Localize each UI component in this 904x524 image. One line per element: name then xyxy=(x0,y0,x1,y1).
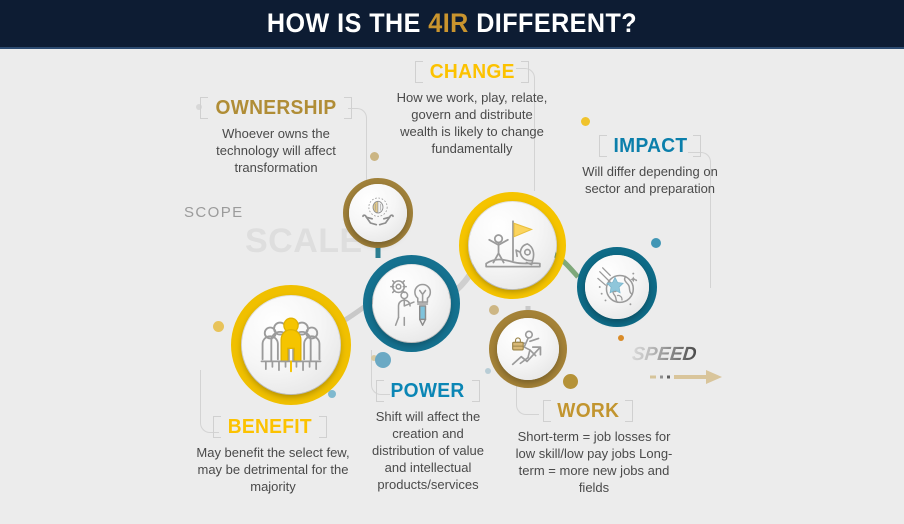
watermark-speed: SPEED xyxy=(631,344,698,366)
benefit-title: BENEFIT xyxy=(228,416,312,438)
block-work: WORK Short-term = job losses for low ski… xyxy=(508,399,668,496)
gear-lightbulb-pencil-icon xyxy=(385,277,439,331)
decor-dot-orange-1 xyxy=(618,335,624,341)
impact-title-wrap: IMPACT xyxy=(599,134,702,158)
block-ownership: OWNERSHIP Whoever owns the technology wi… xyxy=(196,96,356,176)
node-scale-people[interactable] xyxy=(231,285,351,405)
node-work-runner[interactable] xyxy=(489,310,567,388)
watermark-scope: SCOPE xyxy=(184,204,244,221)
block-impact: IMPACT Will differ depending on sector a… xyxy=(570,134,730,197)
decor-dot-gold-7 xyxy=(563,374,578,389)
page-title: HOW IS THE 4IR DIFFERENT? xyxy=(267,8,637,39)
businessman-arrow-icon xyxy=(505,326,551,372)
node-power-invent[interactable] xyxy=(363,255,460,352)
flag-summit-rocket-icon xyxy=(482,215,544,277)
hands-holding-brain-icon xyxy=(358,193,398,233)
block-power: POWER Shift will affect the creation and… xyxy=(355,379,501,493)
people-group-icon xyxy=(256,310,326,380)
decor-dot-gold-1 xyxy=(213,321,224,332)
change-desc: How we work, play, relate, govern and di… xyxy=(392,89,552,157)
globe-star-icon xyxy=(594,264,640,310)
decor-dot-gold-6 xyxy=(489,305,499,315)
infographic-canvas: HOW IS THE 4IR DIFFERENT? SCOPE SCALE SP… xyxy=(0,0,904,524)
power-title-wrap: POWER xyxy=(376,379,479,403)
node-change-flag[interactable] xyxy=(459,192,566,299)
node-impact-globe[interactable] xyxy=(577,247,657,327)
work-desc: Short-term = job losses for low skill/lo… xyxy=(508,428,680,496)
work-title: WORK xyxy=(557,400,619,422)
title-text-1: HOW IS THE xyxy=(267,8,428,38)
change-title-wrap: CHANGE xyxy=(415,60,529,84)
ownership-desc: Whoever owns the technology will affect … xyxy=(200,125,352,176)
watermark-scale: SCALE xyxy=(245,222,363,261)
title-text-2: DIFFERENT? xyxy=(469,8,637,38)
work-title-wrap: WORK xyxy=(543,399,634,423)
decor-dot-gold-2 xyxy=(370,152,379,161)
benefit-title-wrap: BENEFIT xyxy=(213,415,327,439)
decor-dot-blue-3 xyxy=(651,238,661,248)
speed-arrow-icon xyxy=(648,367,726,387)
impact-desc: Will differ depending on sector and prep… xyxy=(574,163,726,197)
power-desc: Shift will affect the creation and distr… xyxy=(365,408,491,493)
block-benefit: BENEFIT May benefit the select few, may … xyxy=(190,415,350,495)
decor-dot-gold-5 xyxy=(581,117,590,126)
impact-title: IMPACT xyxy=(613,135,687,157)
node-ownership-brain[interactable] xyxy=(343,178,413,248)
header-underline xyxy=(0,47,904,49)
change-title: CHANGE xyxy=(430,61,515,83)
ownership-title-wrap: OWNERSHIP xyxy=(200,96,352,120)
benefit-desc: May benefit the select few, may be detri… xyxy=(190,444,356,495)
power-title: POWER xyxy=(391,380,465,402)
ownership-title: OWNERSHIP xyxy=(215,97,336,119)
decor-dot-blue-2 xyxy=(375,352,391,368)
block-change: CHANGE How we work, play, relate, govern… xyxy=(392,60,552,157)
decor-dot-gray-1 xyxy=(485,368,491,374)
header-bar: HOW IS THE 4IR DIFFERENT? xyxy=(0,0,904,47)
title-accent-4ir: 4IR xyxy=(428,8,468,38)
